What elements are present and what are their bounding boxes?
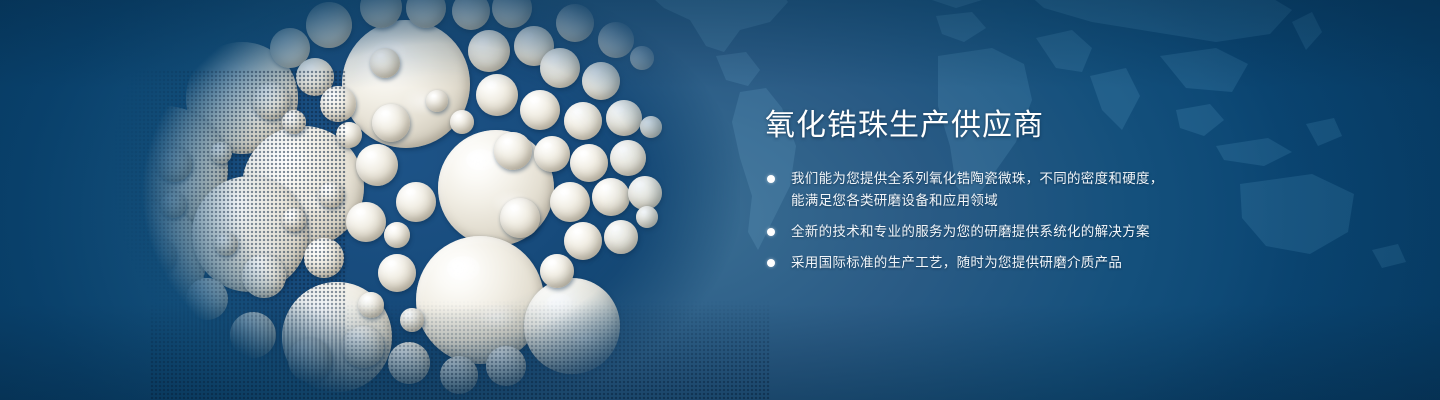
list-item-line1: 全新的技术和专业的服务为您的研磨提供系统化的解决方案 [791, 224, 1150, 239]
list-item-line1: 采用国际标准的生产工艺，随时为您提供研磨介质产品 [791, 255, 1122, 270]
banner-copy: 氧化锆珠生产供应商 我们能为您提供全系列氧化锆陶瓷微珠，不同的密度和硬度， 能满… [765, 106, 1245, 283]
page-title: 氧化锆珠生产供应商 [765, 106, 1245, 146]
list-item: 全新的技术和专业的服务为您的研磨提供系统化的解决方案 [765, 221, 1245, 243]
list-item-line2: 能满足您各类研磨设备和应用领域 [791, 190, 1245, 212]
bullet-dot-icon [767, 175, 775, 183]
bullet-dot-icon [767, 259, 775, 267]
feature-list: 我们能为您提供全系列氧化锆陶瓷微珠，不同的密度和硬度， 能满足您各类研磨设备和应… [765, 168, 1245, 274]
bullet-dot-icon [767, 228, 775, 236]
list-item: 我们能为您提供全系列氧化锆陶瓷微珠，不同的密度和硬度， 能满足您各类研磨设备和应… [765, 168, 1245, 212]
hero-banner: 氧化锆珠生产供应商 我们能为您提供全系列氧化锆陶瓷微珠，不同的密度和硬度， 能满… [0, 0, 1440, 400]
list-item: 采用国际标准的生产工艺，随时为您提供研磨介质产品 [765, 252, 1245, 274]
list-item-line1: 我们能为您提供全系列氧化锆陶瓷微珠，不同的密度和硬度， [791, 171, 1164, 186]
